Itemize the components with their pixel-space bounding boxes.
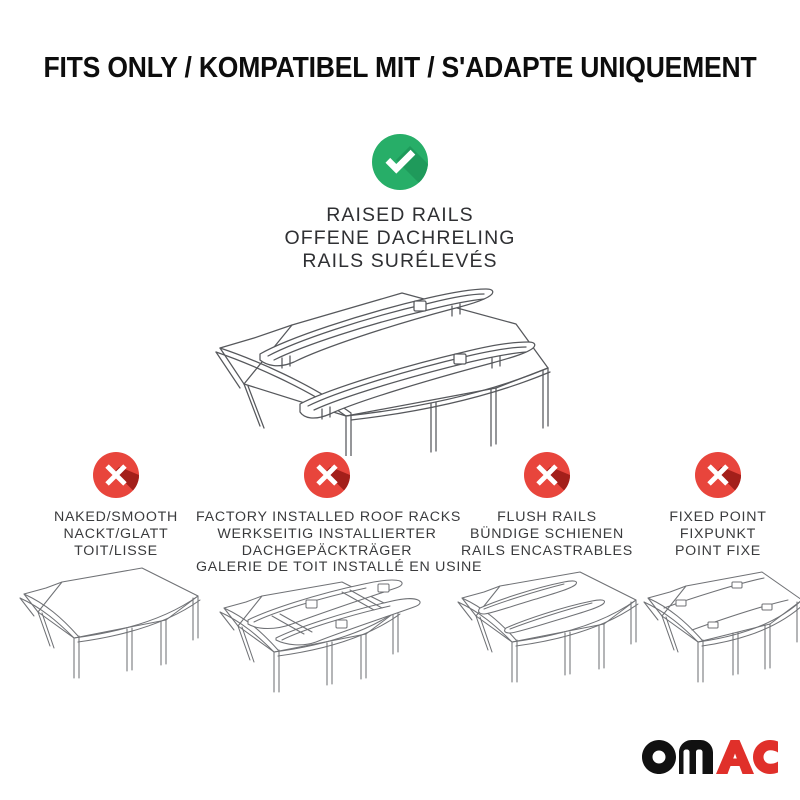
incompatible-label-flush-rails: FLUSH RAILS BÜNDIGE SCHIENEN RAILS ENCAS…: [452, 509, 642, 559]
label-line-en: FIXED POINT: [636, 509, 800, 526]
car-roof-raised-rails-illustration: [196, 276, 606, 456]
compatible-line-en: RAISED RAILS: [0, 204, 800, 227]
x-circle-icon: [524, 452, 570, 498]
car-roof-flush-rails-illustration: [452, 560, 642, 685]
car-roof-factory-rack-illustration: [196, 560, 458, 695]
label-line-en: FLUSH RAILS: [452, 509, 642, 526]
compatible-line-fr: RAILS SURÉLEVÉS: [0, 250, 800, 273]
label-line-en: NAKED/SMOOTH: [16, 509, 216, 526]
x-circle-icon: [93, 452, 139, 498]
incompatible-item-factory-rack: FACTORY INSTALLED ROOF RACKS WERKSEITIG …: [196, 452, 458, 576]
label-line-de-1: WERKSEITIG INSTALLIERTER: [196, 526, 458, 543]
car-roof-fixed-point-illustration: [636, 560, 800, 685]
x-circle-icon: [304, 452, 350, 498]
label-line-fr: RAILS ENCASTRABLES: [452, 543, 642, 560]
incompatible-item-flush-rails: FLUSH RAILS BÜNDIGE SCHIENEN RAILS ENCAS…: [452, 452, 642, 559]
label-line-de: FIXPUNKT: [636, 526, 800, 543]
incompatible-item-naked-smooth: NAKED/SMOOTH NACKT/GLATT TOIT/LISSE: [16, 452, 216, 559]
incompatible-section: NAKED/SMOOTH NACKT/GLATT TOIT/LISSE: [0, 452, 800, 692]
x-circle-icon: [695, 452, 741, 498]
car-roof-naked-smooth-illustration: [16, 560, 216, 680]
label-line-fr: POINT FIXE: [636, 543, 800, 560]
label-line-fr: TOIT/LISSE: [16, 543, 216, 560]
omac-logo: [642, 740, 778, 774]
incompatible-label-naked-smooth: NAKED/SMOOTH NACKT/GLATT TOIT/LISSE: [16, 509, 216, 559]
label-line-de-2: DACHGEPÄCKTRÄGER: [196, 543, 458, 560]
page-title: FITS ONLY / KOMPATIBEL MIT / S'ADAPTE UN…: [28, 52, 772, 85]
compatible-label: RAISED RAILS OFFENE DACHRELING RAILS SUR…: [0, 204, 800, 273]
incompatible-item-fixed-point: FIXED POINT FIXPUNKT POINT FIXE: [636, 452, 800, 559]
compatible-section: RAISED RAILS OFFENE DACHRELING RAILS SUR…: [0, 134, 800, 273]
compatible-line-de: OFFENE DACHRELING: [0, 227, 800, 250]
label-line-en: FACTORY INSTALLED ROOF RACKS: [196, 509, 458, 526]
incompatible-label-fixed-point: FIXED POINT FIXPUNKT POINT FIXE: [636, 509, 800, 559]
label-line-de: NACKT/GLATT: [16, 526, 216, 543]
label-line-de: BÜNDIGE SCHIENEN: [452, 526, 642, 543]
check-circle-icon: [372, 134, 428, 190]
